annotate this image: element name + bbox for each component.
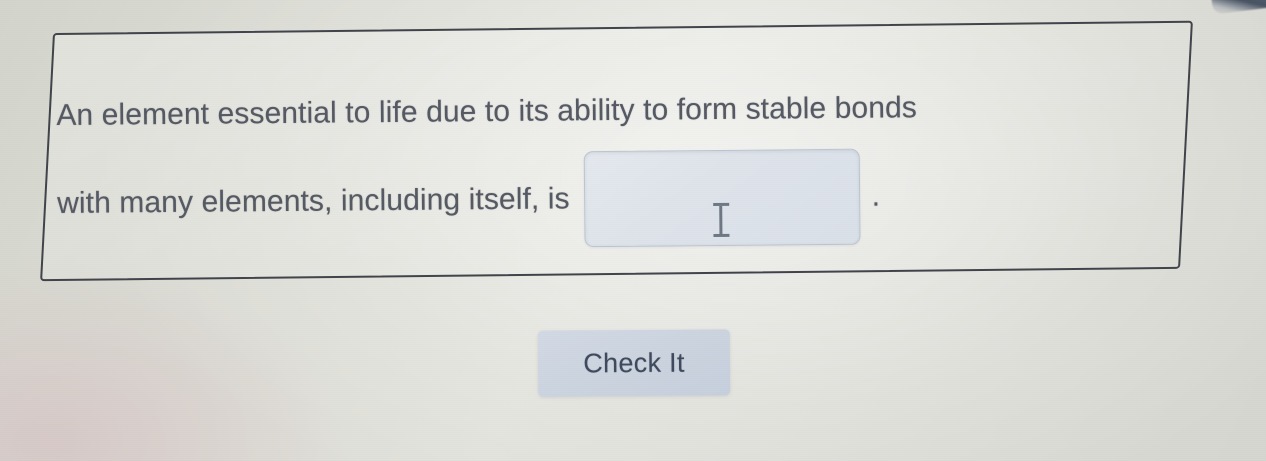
question-line-2-terminator: . <box>871 157 880 237</box>
question-line-2-text: with many elements, including itself, is <box>57 159 570 244</box>
screen-edge-sliver <box>1211 0 1266 14</box>
i-beam-text-cursor-icon <box>713 203 729 237</box>
question-text-block: An element essential to life due to its … <box>56 66 1168 252</box>
screen-photo-backdrop: An element essential to life due to its … <box>0 0 1266 461</box>
question-line-1: An element essential to life due to its … <box>56 66 1167 156</box>
answer-input[interactable] <box>583 149 860 248</box>
check-it-button[interactable]: Check It <box>538 329 730 396</box>
question-line-2: with many elements, including itself, is… <box>57 146 1168 252</box>
